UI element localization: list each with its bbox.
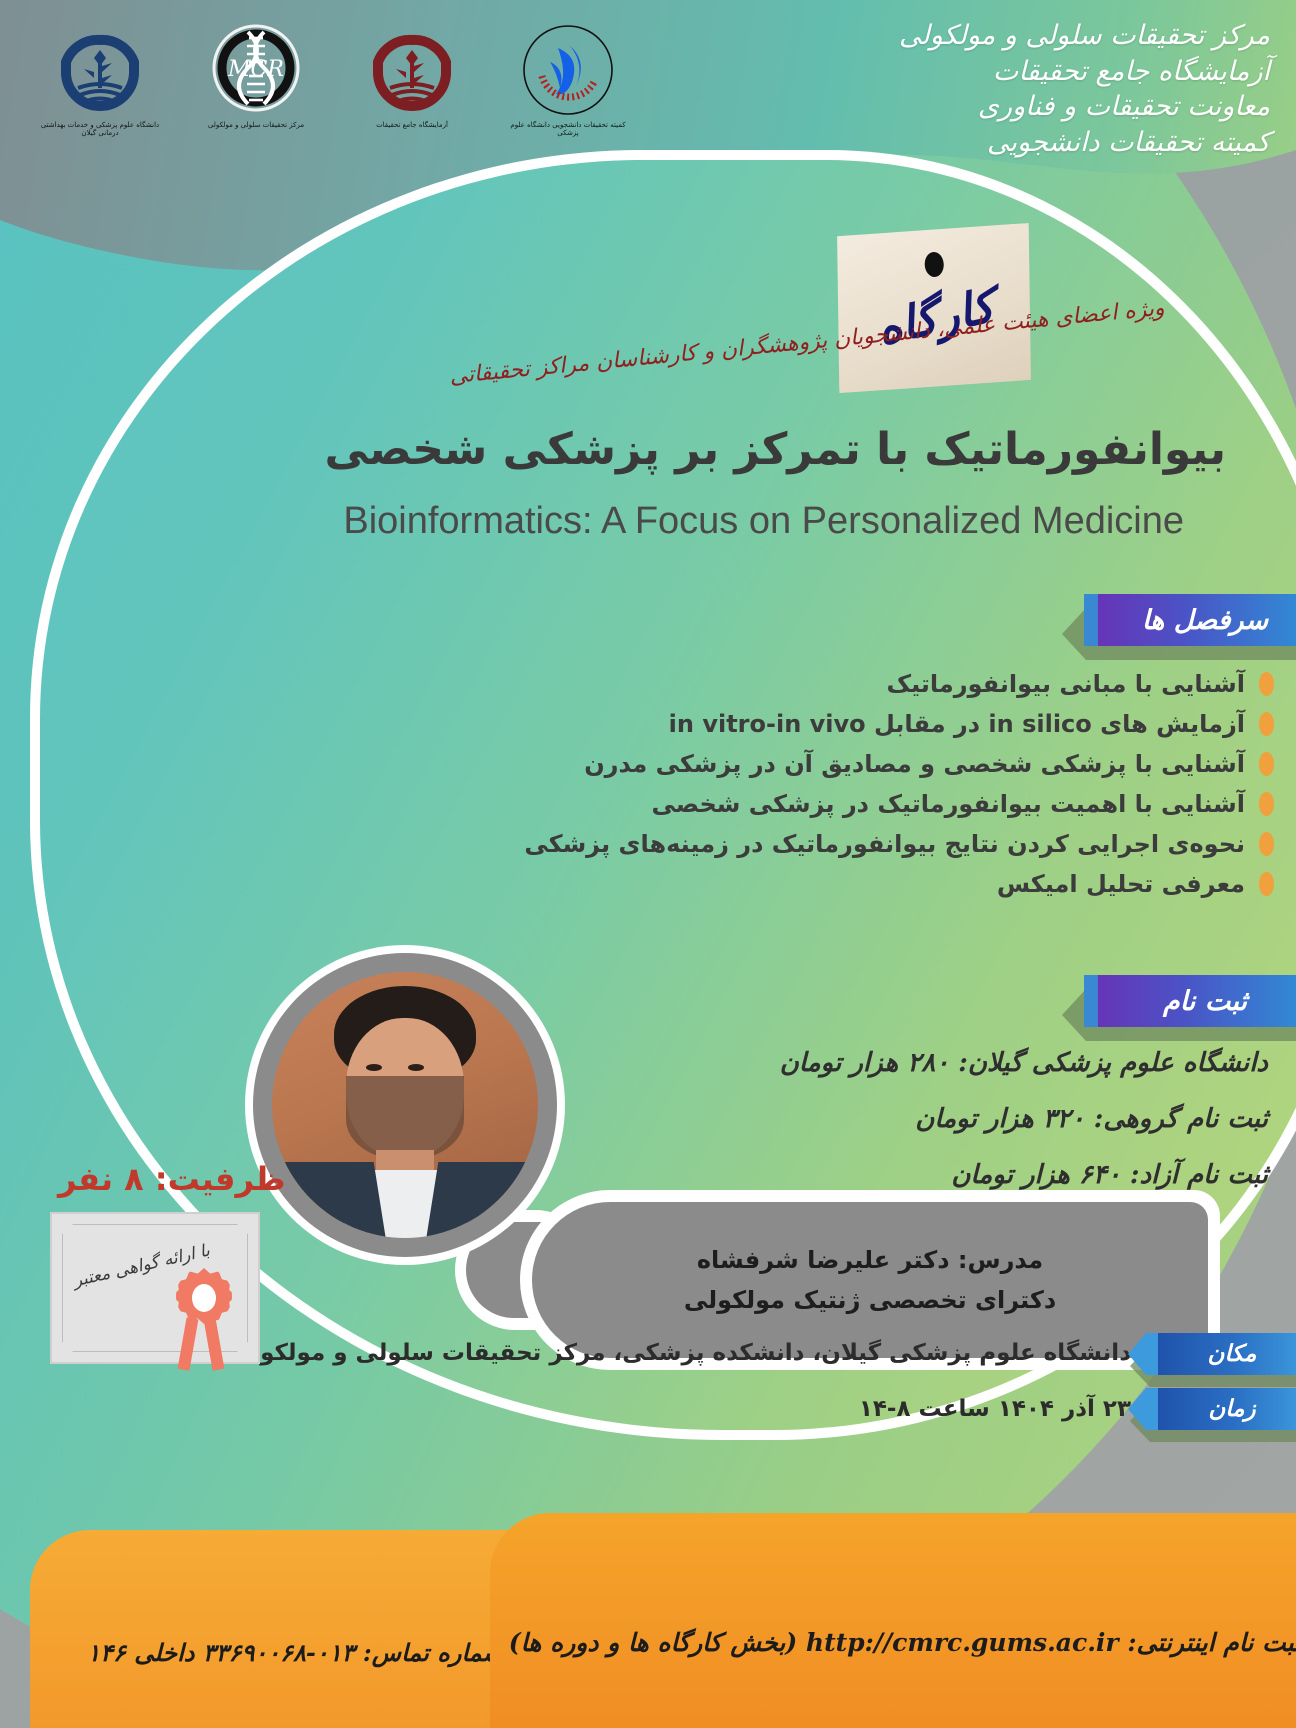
topics-list: آشنایی با مبانی بیوانفورماتیک آزمایش های… — [374, 664, 1274, 904]
bullet-icon — [1259, 672, 1274, 696]
online-registration-prefix: ثبت نام اینترنتی: — [1127, 1628, 1296, 1657]
avatar-eye-left — [366, 1064, 382, 1071]
cmrc-dna-icon: MCR — [208, 22, 304, 118]
seal-center — [192, 1284, 216, 1312]
contact-panel: شماره تماس: ۰۱۳-۳۳۶۹۰۰۶۸ داخلی ۱۴۶ — [30, 1530, 560, 1728]
comprehensive-research-lab-logo: آزمایشگاه جامع تحقیقات — [352, 22, 472, 130]
instructor-name: مدرس: دکتر علیرضا شرفشاه — [697, 1246, 1043, 1274]
fee-row: ثبت نام گروهی: ۳۲۰ هزار تومان — [780, 1104, 1268, 1134]
topics-heading-label: سرفصل ها — [1084, 594, 1296, 646]
logo-caption: آزمایشگاه جامع تحقیقات — [376, 122, 448, 130]
fee-row: ثبت نام آزاد: ۶۴۰ هزار تومان — [780, 1160, 1268, 1190]
logo-caption: مرکز تحقیقات سلولی و مولکولی — [208, 122, 304, 130]
svg-text:MCR: MCR — [227, 57, 284, 82]
page-title-en: Bioinformatics: A Focus on Personalized … — [343, 500, 1184, 543]
avatar-beard — [346, 1076, 464, 1160]
bullet-icon — [1259, 752, 1274, 776]
registration-fees: دانشگاه علوم پزشکی گیلان: ۲۸۰ هزار تومان… — [780, 1048, 1268, 1216]
avatar-jacket-left — [274, 1162, 387, 1238]
capacity-label: ظرفیت: ۸ نفر — [58, 1160, 286, 1198]
guilan-university-icon — [52, 22, 148, 118]
org-line-3: معاونت تحقیقات و فناوری — [899, 89, 1270, 125]
organization-lines: مرکز تحقیقات سلولی و مولکولی آزمایشگاه ج… — [899, 18, 1270, 161]
bullet-icon — [1259, 712, 1274, 736]
topic-label: معرفی تحلیل امیکس — [997, 870, 1245, 898]
topic-label: آزمایش های in silico در مقابل in vitro-i… — [669, 710, 1245, 738]
poster-canvas: کمیته تحقیقات دانشجویی دانشگاه علوم پزشک… — [0, 0, 1296, 1728]
org-line-4: کمیته تحقیقات دانشجویی — [899, 125, 1270, 161]
instructor-avatar — [272, 972, 538, 1238]
contact-label: شماره تماس: — [363, 1638, 503, 1667]
fee-row: دانشگاه علوم پزشکی گیلان: ۲۸۰ هزار تومان — [780, 1048, 1268, 1078]
list-item: نحوه‌ی اجرایی کردن نتایج بیوانفورماتیک د… — [374, 824, 1274, 864]
pin-icon — [924, 252, 944, 278]
place-value: دانشگاه علوم پزشکی گیلان، دانشکده پزشکی،… — [228, 1340, 1131, 1366]
logo-caption: کمیته تحقیقات دانشجویی دانشگاه علوم پزشک… — [508, 122, 628, 137]
page-title-fa: بیوانفورماتیک با تمرکز بر پزشکی شخصی — [324, 424, 1226, 475]
list-item: آزمایش های in silico در مقابل in vitro-i… — [374, 704, 1274, 744]
org-line-1: مرکز تحقیقات سلولی و مولکولی — [899, 18, 1270, 54]
topic-label: آشنایی با اهمیت بیوانفورماتیک در پزشکی ش… — [652, 790, 1245, 818]
place-heading-label: مکان — [1148, 1333, 1296, 1375]
place-heading-ribbon: مکان — [1148, 1333, 1296, 1375]
time-heading-ribbon: زمان — [1148, 1388, 1296, 1430]
topic-label: نحوه‌ی اجرایی کردن نتایج بیوانفورماتیک د… — [524, 830, 1245, 858]
cmrc-dna-logo: MCR مرکز تحقیقات سلولی و مولکولی — [196, 22, 316, 130]
registration-url[interactable]: http://cmrc.gums.ac.ir — [806, 1628, 1119, 1657]
online-registration-line: ثبت نام اینترنتی: http://cmrc.gums.ac.ir… — [490, 1628, 1296, 1657]
time-heading-label: زمان — [1148, 1388, 1296, 1430]
comprehensive-research-lab-icon — [364, 22, 460, 118]
time-value: ۲۳ آذر ۱۴۰۴ ساعت ۸-۱۴ — [859, 1396, 1131, 1422]
logo-strip: کمیته تحقیقات دانشجویی دانشگاه علوم پزشک… — [40, 22, 628, 137]
avatar-eye-right — [408, 1064, 424, 1071]
guilan-university-medical-sciences-logo: دانشگاه علوم پزشکی و خدمات بهداشتی درمان… — [40, 22, 160, 137]
registration-heading-ribbon: ثبت نام — [1084, 975, 1296, 1027]
logo-caption: دانشگاه علوم پزشکی و خدمات بهداشتی درمان… — [40, 122, 160, 137]
online-registration-suffix: (بخش کارگاه ها و دوره ها) — [509, 1628, 797, 1657]
topic-label: آشنایی با مبانی بیوانفورماتیک — [887, 670, 1245, 698]
online-registration-panel: ثبت نام اینترنتی: http://cmrc.gums.ac.ir… — [490, 1513, 1296, 1728]
topic-label: آشنایی با پزشکی شخصی و مصادیق آن در پزشک… — [584, 750, 1245, 778]
student-research-committee-logo: کمیته تحقیقات دانشجویی دانشگاه علوم پزشک… — [508, 22, 628, 137]
bullet-icon — [1259, 872, 1274, 896]
list-item: معرفی تحلیل امیکس — [374, 864, 1274, 904]
list-item: آشنایی با اهمیت بیوانفورماتیک در پزشکی ش… — [374, 784, 1274, 824]
topics-heading-ribbon: سرفصل ها — [1084, 594, 1296, 646]
bullet-icon — [1259, 832, 1274, 856]
bullet-icon — [1259, 792, 1274, 816]
instructor-pill: مدرس: دکتر علیرضا شرفشاه دکترای تخصصی ژن… — [532, 1202, 1208, 1358]
student-research-committee-icon — [520, 22, 616, 118]
avatar-jacket-right — [426, 1162, 538, 1238]
sticky-note: کارگاه — [831, 223, 1039, 393]
registration-heading-label: ثبت نام — [1084, 975, 1296, 1027]
org-line-2: آزمایشگاه جامع تحقیقات — [899, 54, 1270, 90]
contact-number: ۰۱۳-۳۳۶۹۰۰۶۸ داخلی ۱۴۶ — [87, 1638, 354, 1667]
list-item: آشنایی با پزشکی شخصی و مصادیق آن در پزشک… — [374, 744, 1274, 784]
contact-line: شماره تماس: ۰۱۳-۳۳۶۹۰۰۶۸ داخلی ۱۴۶ — [30, 1638, 560, 1667]
list-item: آشنایی با مبانی بیوانفورماتیک — [374, 664, 1274, 704]
instructor-degree: دکترای تخصصی ژنتیک مولکولی — [684, 1286, 1056, 1314]
